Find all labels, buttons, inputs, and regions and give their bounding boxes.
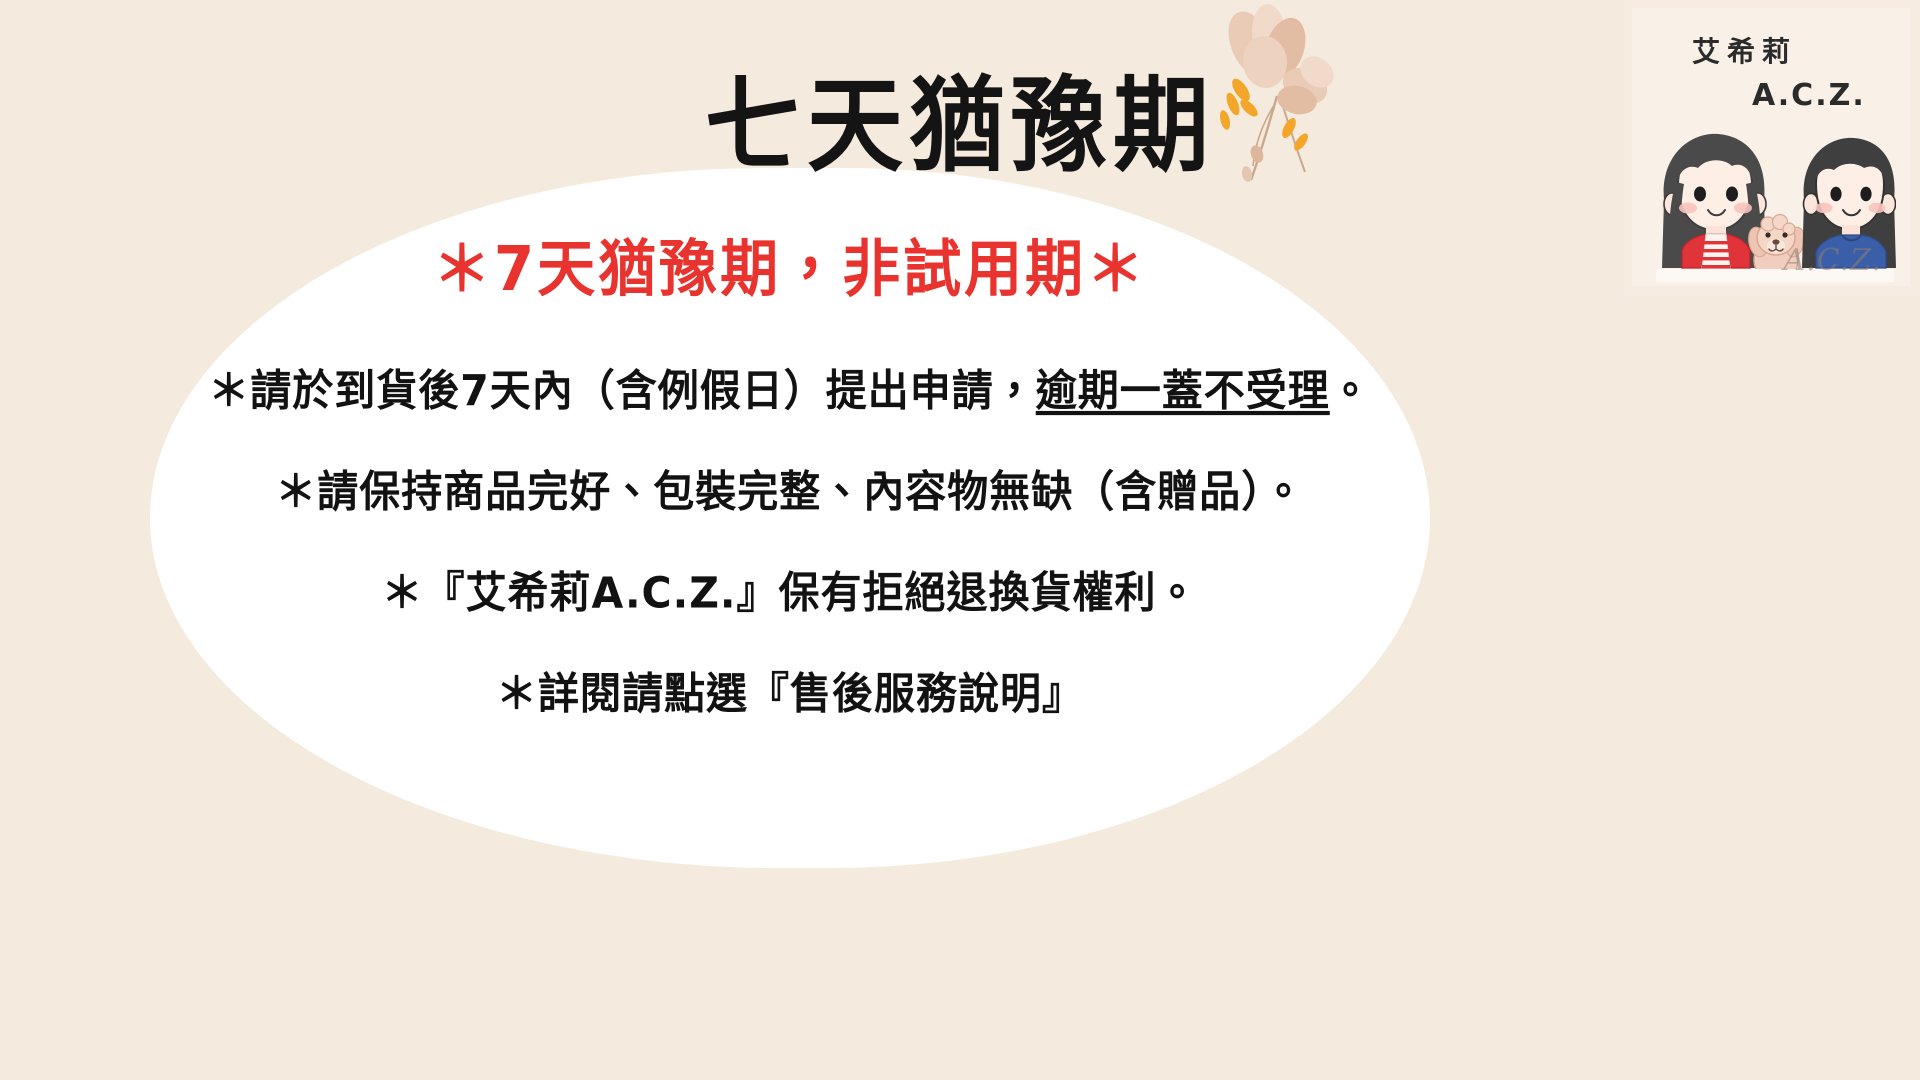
- headline-text: ＊7天猶豫期，非試用期＊: [433, 236, 1147, 304]
- brand-name-en: A.C.Z.: [1752, 78, 1866, 113]
- policy-line-1-underlined: 逾期一蓋不受理: [1036, 366, 1330, 416]
- brand-name-cn: 艾希莉: [1692, 30, 1797, 70]
- policy-line-rights: ＊『艾希莉A.C.Z.』保有拒絕退換貨權利。: [381, 569, 1198, 618]
- brand-watermark: A.C.Z.: [1784, 243, 1882, 278]
- policy-line-2-pre: ＊請保持商品完好、包裝完整、內容物無缺（含贈品）。: [275, 467, 1305, 517]
- policy-line-3-pre: ＊『艾希莉A.C.Z.』保有拒絕退換貨權利。: [381, 568, 1198, 618]
- policy-list: ＊請於到貨後7天內（含例假日）提出申請，逾期一蓋不受理。 ＊請保持商品完好、包裝…: [150, 368, 1430, 719]
- content-area: ＊7天猶豫期，非試用期＊ ＊請於到貨後7天內（含例假日）提出申請，逾期一蓋不受理…: [150, 168, 1430, 868]
- policy-line-1-pre: ＊請於到貨後7天內（含例假日）提出申請，: [208, 366, 1036, 416]
- policy-line-1-post: 。: [1330, 366, 1372, 416]
- policy-line-more-info: ＊詳閱請點選『售後服務說明』: [496, 670, 1084, 719]
- policy-line-4-pre: ＊詳閱請點選『售後服務說明』: [496, 669, 1084, 719]
- page-title: 七天猶豫期: [705, 74, 1215, 178]
- policy-line-condition: ＊請保持商品完好、包裝完整、內容物無缺（含贈品）。: [275, 468, 1305, 517]
- brand-logo-card: 艾希莉 A.C.Z.: [1624, 0, 1920, 296]
- poster-canvas: 七天猶豫期: [0, 0, 1920, 1080]
- policy-line-apply-window: ＊請於到貨後7天內（含例假日）提出申請，逾期一蓋不受理。: [208, 367, 1372, 416]
